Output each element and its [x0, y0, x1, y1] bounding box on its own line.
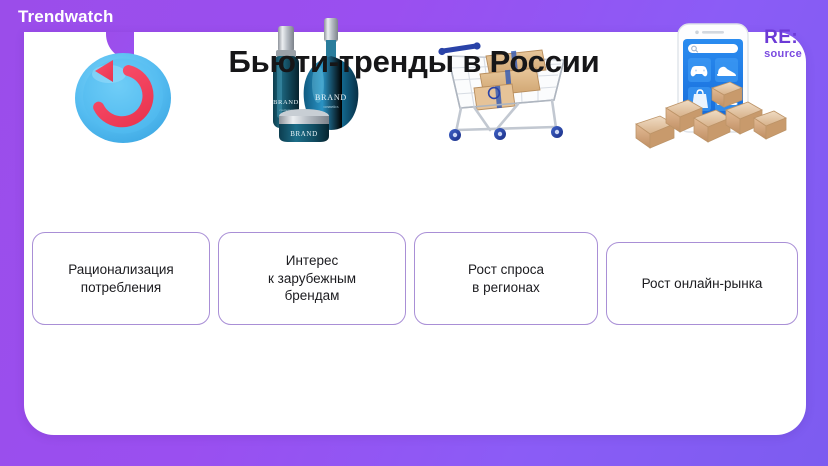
trend-cards-row: Рационализация потребления Интерес к зар… — [24, 120, 806, 350]
trend-card-label: Рост онлайн-рынка — [642, 275, 763, 293]
trend-card-regional-demand[interactable]: Рост спроса в регионах — [414, 232, 598, 325]
trend-card-label: Интерес к зарубежным брендам — [268, 252, 356, 306]
trend-card-online-market[interactable]: Рост онлайн-рынка — [606, 242, 798, 325]
trend-card-label: Рост спроса в регионах — [468, 261, 544, 297]
trend-card-foreign-brands[interactable]: Интерес к зарубежным брендам — [218, 232, 406, 325]
slide-root: Trendwatch RE: source Бьюти-тренды в Рос… — [0, 0, 828, 466]
trend-card-label: Рационализация потребления — [68, 261, 174, 297]
brand-tab: Trendwatch — [0, 0, 132, 33]
brand-tab-label: Trendwatch — [18, 7, 113, 27]
page-title: Бьюти-тренды в России — [0, 44, 828, 80]
trend-card-rationalization[interactable]: Рационализация потребления — [32, 232, 210, 325]
